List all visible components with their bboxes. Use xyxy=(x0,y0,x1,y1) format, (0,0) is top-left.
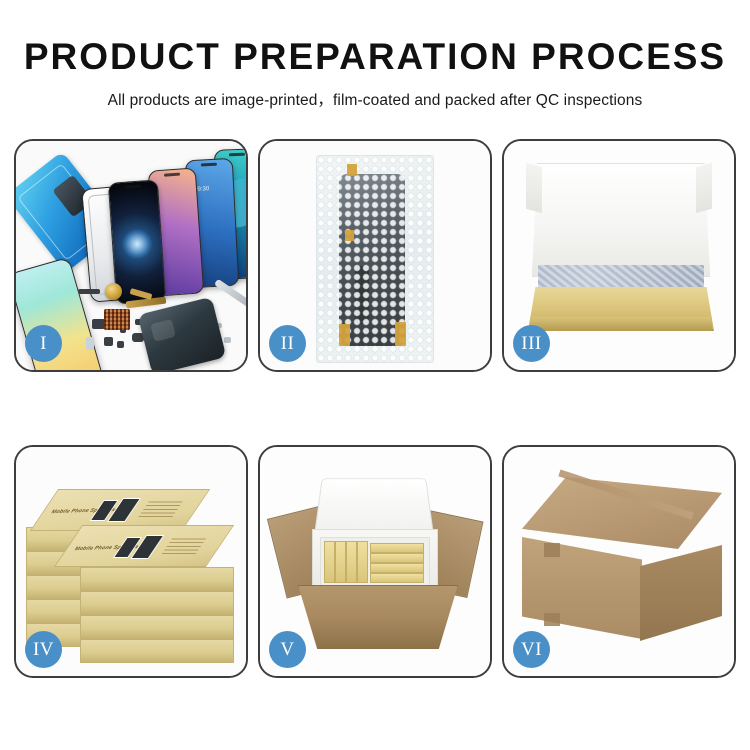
packed-box-4 xyxy=(357,541,368,583)
step-badge-2: II xyxy=(269,325,306,362)
process-step-card-5: V xyxy=(258,445,492,678)
packed-box-2 xyxy=(335,541,346,583)
step-badge-4: IV xyxy=(25,631,62,668)
step-badge-6: VI xyxy=(513,631,550,668)
process-step-grid: 09:30 xyxy=(14,139,736,678)
process-step-card-2: II xyxy=(258,139,492,372)
packed-box-8 xyxy=(370,573,424,583)
packed-box-6 xyxy=(370,553,424,563)
bubble-wrap-bag-icon xyxy=(316,155,434,363)
coil-part-icon xyxy=(105,283,122,300)
page-subtitle: All products are image-printed，film-coat… xyxy=(0,88,750,110)
process-step-card-6: VI xyxy=(502,445,736,678)
page-title: PRODUCT PREPARATION PROCESS xyxy=(0,38,750,75)
step-badge-5: V xyxy=(269,631,306,668)
carton-body-icon xyxy=(298,585,458,649)
stacked-retail-boxes-icon: Mobile Phone Spare Parts Mobile Phone Sp… xyxy=(22,471,242,659)
packed-box-7 xyxy=(370,563,424,573)
process-step-card-3: III xyxy=(502,139,736,372)
logic-board-part-icon xyxy=(104,309,130,330)
page-header: PRODUCT PREPARATION PROCESS All products… xyxy=(0,0,750,110)
step-badge-1: I xyxy=(25,325,62,362)
step-badge-3: III xyxy=(513,325,550,362)
packed-box-3 xyxy=(346,541,357,583)
packed-box-1 xyxy=(324,541,335,583)
white-box-lid-icon xyxy=(532,163,710,277)
process-step-card-4: Mobile Phone Spare Parts Mobile Phone Sp… xyxy=(14,445,248,678)
packed-box-5 xyxy=(370,543,424,553)
process-step-card-1: 09:30 xyxy=(14,139,248,372)
